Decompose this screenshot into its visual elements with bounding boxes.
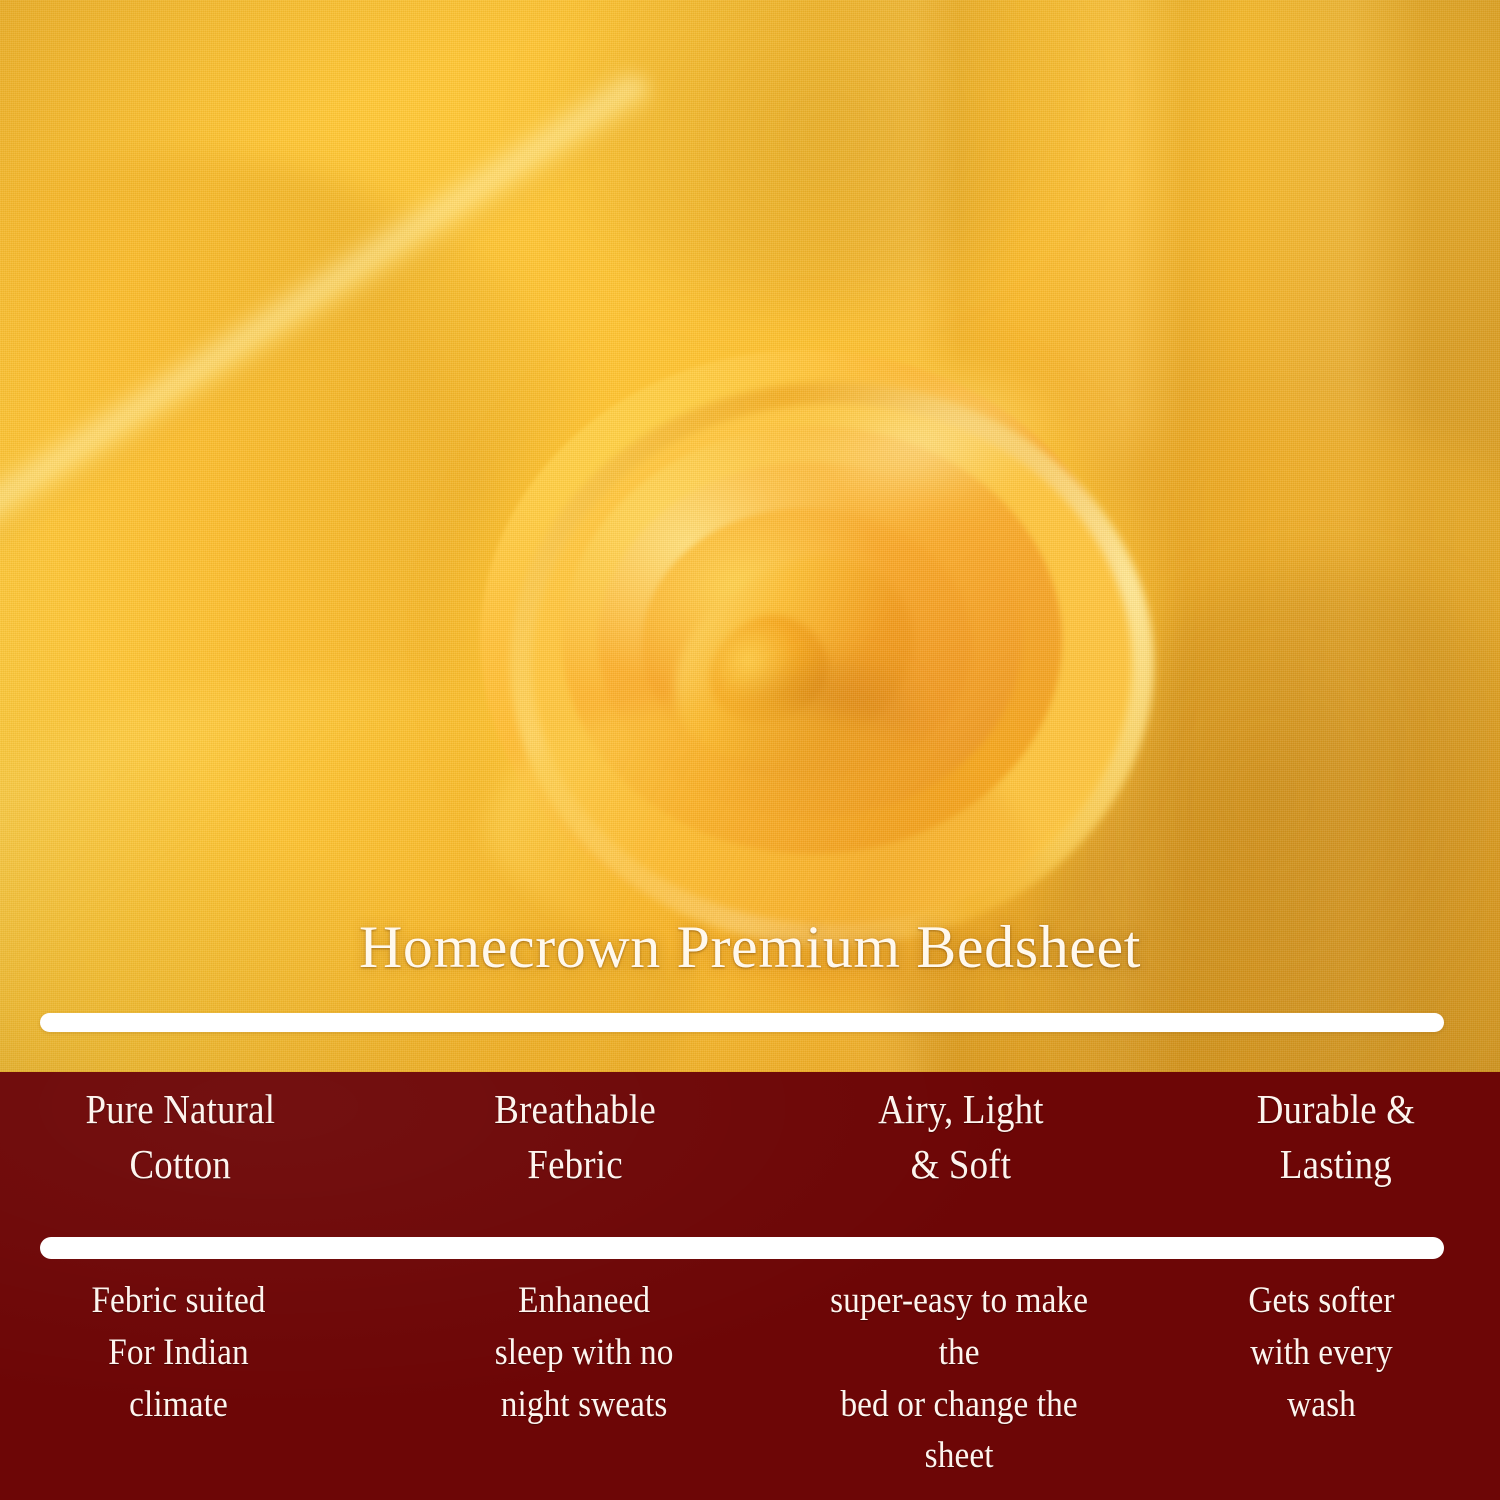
feature-heading-3: Airy, Light & Soft — [792, 1082, 1130, 1192]
divider-bar-top — [40, 1013, 1444, 1032]
feature-detail-4: Gets softer with every wash — [1153, 1275, 1491, 1482]
product-infographic: Homecrown Premium Bedsheet Pure Natural … — [0, 0, 1500, 1500]
divider-bar-middle — [40, 1237, 1444, 1259]
fabric-hero-image — [0, 0, 1500, 1073]
feature-heading-2: Breathable Febric — [406, 1082, 743, 1192]
feature-detail-1: Febric suited For Indian climate — [10, 1275, 348, 1482]
feature-detail-2: Enhaneed sleep with no night sweats — [415, 1275, 752, 1482]
feature-heading-1: Pure Natural Cotton — [12, 1082, 350, 1192]
feature-detail-3: super-easy to make the bed or change the… — [790, 1275, 1128, 1482]
feature-heading-4: Durable & Lasting — [1167, 1082, 1500, 1192]
feature-headings-row: Pure Natural Cotton Breathable Febric Ai… — [0, 1082, 1500, 1192]
fabric-spiral-roll — [470, 330, 1150, 950]
product-title: Homecrown Premium Bedsheet — [0, 916, 1500, 979]
feature-details-row: Febric suited For Indian climate Enhanee… — [0, 1275, 1500, 1482]
